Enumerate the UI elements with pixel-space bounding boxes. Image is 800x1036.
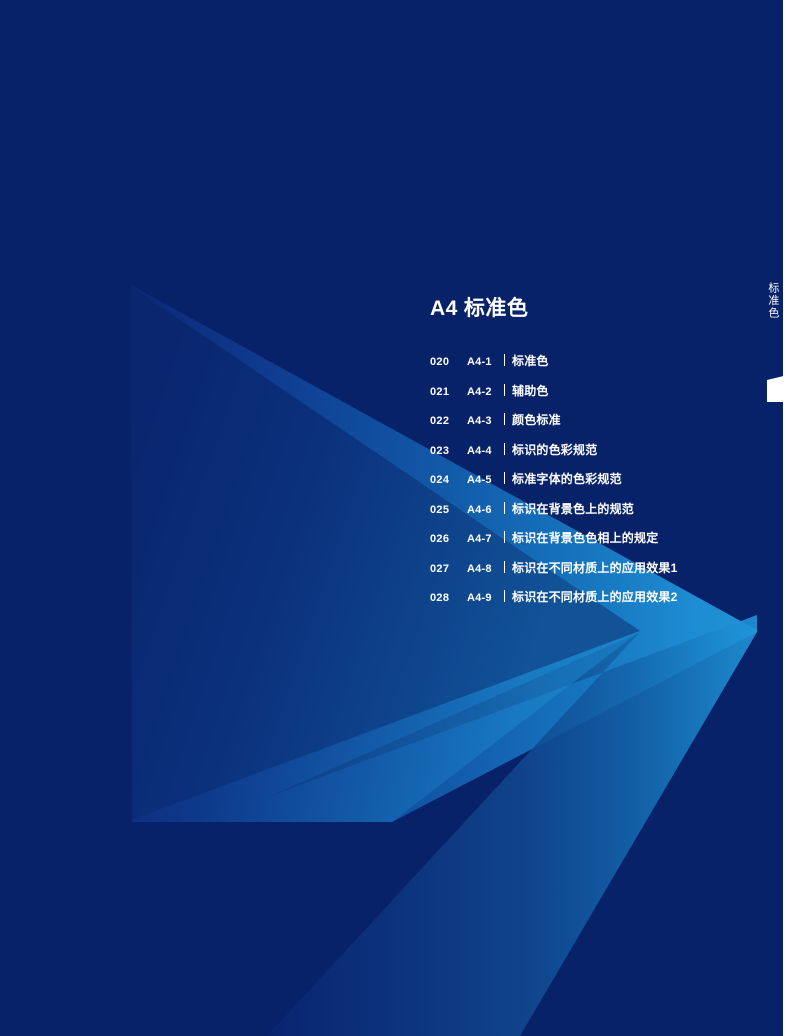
toc-section-code: A4-1 [467,356,501,368]
section-tab-label: 标准色 [765,282,779,320]
toc-section-code: A4-6 [467,504,501,516]
page-title: A4标准色 [430,292,760,322]
toc-page-number: 022 [430,415,467,427]
toc-entry-label: 颜色标准 [512,411,561,428]
table-of-contents: 020 A4-1 标准色 021 A4-2 辅助色 022 A4-3 颜色标准 … [430,352,760,605]
toc-section-code: A4-5 [467,474,501,486]
list-item[interactable]: 021 A4-2 辅助色 [430,382,760,399]
section-divider-page: 标准色 A4标准色 020 A4-1 标准色 021 A4-2 辅助色 022 … [0,0,800,1036]
toc-page-number: 020 [430,356,467,368]
toc-section-code: A4-8 [467,563,501,575]
toc-page-number: 021 [430,386,467,398]
list-item[interactable]: 025 A4-6 标识在背景色上的规范 [430,500,760,517]
toc-page-number: 027 [430,563,467,575]
list-item[interactable]: 026 A4-7 标识在背景色色相上的规定 [430,529,760,546]
toc-entry-label: 标识在不同材质上的应用效果2 [512,588,677,605]
toc-entry-label: 标准色 [512,352,549,369]
toc-separator [504,561,505,573]
section-content: A4标准色 020 A4-1 标准色 021 A4-2 辅助色 022 A4-3… [430,292,760,618]
toc-page-number: 028 [430,592,467,604]
toc-page-number: 023 [430,445,467,457]
list-item[interactable]: 027 A4-8 标识在不同材质上的应用效果1 [430,559,760,576]
toc-separator [504,384,505,396]
toc-entry-label: 标识的色彩规范 [512,441,597,458]
toc-page-number: 025 [430,504,467,516]
toc-entry-label: 辅助色 [512,382,549,399]
toc-separator [504,413,505,425]
toc-separator [504,354,505,366]
page-title-text: 标准色 [464,297,529,320]
page-title-code: A4 [430,297,458,320]
toc-section-code: A4-3 [467,415,501,427]
toc-entry-label: 标识在不同材质上的应用效果1 [512,559,677,576]
toc-separator [504,590,505,602]
list-item[interactable]: 028 A4-9 标识在不同材质上的应用效果2 [430,588,760,605]
list-item[interactable]: 023 A4-4 标识的色彩规范 [430,441,760,458]
toc-section-code: A4-2 [467,386,501,398]
toc-separator [504,502,505,514]
toc-section-code: A4-4 [467,445,501,457]
toc-entry-label: 标识在背景色上的规范 [512,500,634,517]
toc-page-number: 024 [430,474,467,486]
toc-separator [504,443,505,455]
toc-page-number: 026 [430,533,467,545]
toc-separator [504,531,505,543]
toc-entry-label: 标识在背景色色相上的规定 [512,529,658,546]
list-item[interactable]: 020 A4-1 标准色 [430,352,760,369]
toc-section-code: A4-7 [467,533,501,545]
toc-entry-label: 标准字体的色彩规范 [512,470,622,487]
section-tab[interactable]: 标准色 [761,282,783,320]
page-right-margin [783,0,800,1036]
list-item[interactable]: 022 A4-3 颜色标准 [430,411,760,428]
toc-separator [504,472,505,484]
list-item[interactable]: 024 A4-5 标准字体的色彩规范 [430,470,760,487]
toc-section-code: A4-9 [467,592,501,604]
